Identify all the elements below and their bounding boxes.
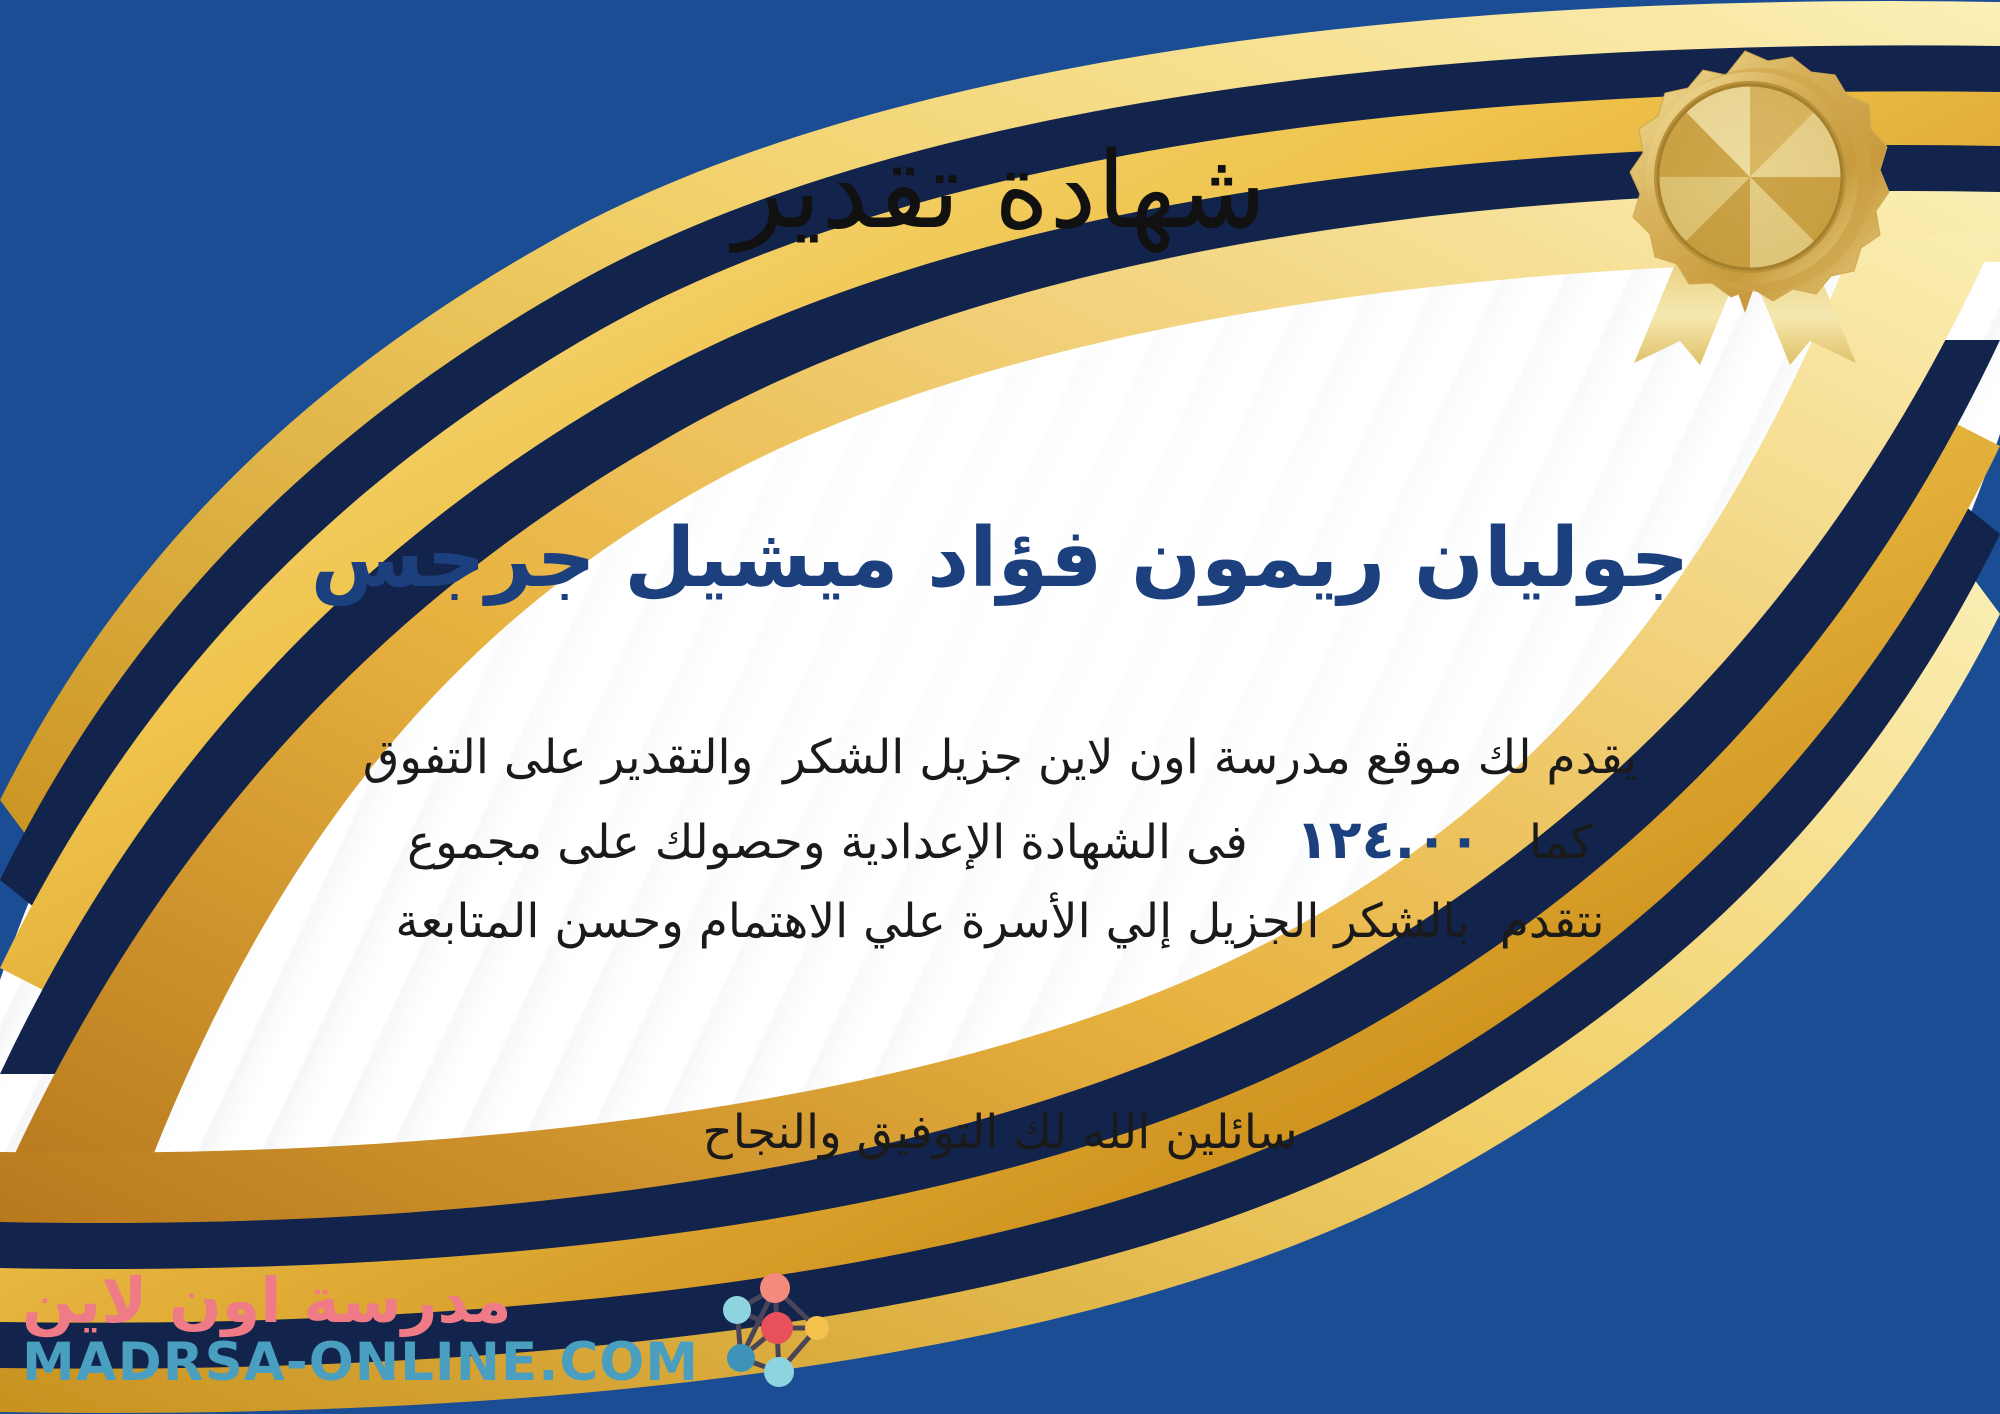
network-nodes-icon (713, 1266, 833, 1392)
body-line-3: نتقدم بالشكر الجزيل إلي الأسرة علي الاهت… (55, 884, 1945, 960)
score-value: ١٢٤.٠٠ (1248, 796, 1529, 883)
certificate-canvas: شهادة تقدير جوليان ريمون فؤاد ميشيل جرجس… (0, 0, 2000, 1414)
brand-logo-text: مدرسة اون لاين MADRSA-ONLINE.COM (22, 1270, 699, 1389)
body-line-1: يقدم لك موقع مدرسة اون لاين جزيل الشكر و… (55, 720, 1945, 796)
brand-website-url: MADRSA-ONLINE.COM (22, 1336, 699, 1389)
certificate-body: يقدم لك موقع مدرسة اون لاين جزيل الشكر و… (55, 720, 1945, 960)
recipient-name: جوليان ريمون فؤاد ميشيل جرجس (0, 510, 2000, 608)
body-line-2-suffix: كما (1529, 805, 1593, 881)
closing-line: سائلين الله لك التوفيق والنجاح (0, 1105, 2000, 1160)
brand-logo[interactable]: مدرسة اون لاين MADRSA-ONLINE.COM (22, 1266, 833, 1392)
page-title: شهادة تقدير (0, 130, 2000, 252)
body-line-2-prefix: فى الشهادة الإعدادية وحصولك على مجموع (407, 805, 1248, 881)
body-line-2: كما ١٢٤.٠٠ فى الشهادة الإعدادية وحصولك ع… (55, 796, 1945, 883)
certificate-content: شهادة تقدير جوليان ريمون فؤاد ميشيل جرجس… (0, 0, 2000, 1414)
brand-name-arabic: مدرسة اون لاين (22, 1270, 512, 1332)
